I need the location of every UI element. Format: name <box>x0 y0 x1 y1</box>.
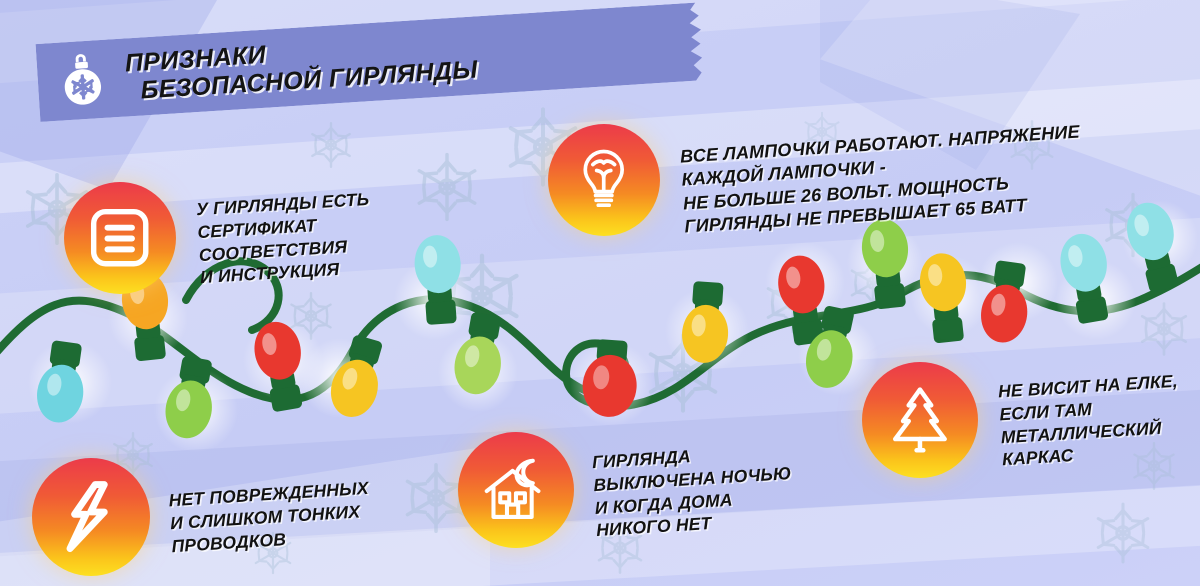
snowflake-icon <box>640 330 726 416</box>
feature-certificate: У ГИРЛЯНДЫ ЕСТЬ СЕРТИФИКАТ СООТВЕТСТВИЯ … <box>64 182 371 294</box>
bulbs-badge <box>548 124 660 236</box>
snowflake-icon <box>1135 300 1193 358</box>
fir-tree-icon <box>884 384 956 456</box>
snowflake-icon <box>306 120 356 170</box>
snowflake-icon <box>436 250 528 342</box>
feature-certificate-text: У ГИРЛЯНДЫ ЕСТЬ СЕРТИФИКАТ СООТВЕТСТВИЯ … <box>195 187 374 288</box>
feature-bulbs-text: ВСЕ ЛАМПОЧКИ РАБОТАЮТ. НАПРЯЖЕНИЕ КАЖДОЙ… <box>679 121 1084 240</box>
tree-badge <box>862 362 978 478</box>
page-title: ПРИЗНАКИ БЕЗОПАСНОЙ ГИРЛЯНДЫ <box>124 27 479 105</box>
feature-tree-text: НЕ ВИСИТ НА ЕЛКЕ, ЕСЛИ ТАМ МЕТАЛЛИЧЕСКИЙ… <box>997 369 1182 471</box>
snowflake-icon <box>845 255 901 311</box>
header-banner-content: ПРИЗНАКИ БЕЗОПАСНОЙ ГИРЛЯНДЫ <box>36 1 720 122</box>
document-lines-icon <box>85 203 154 272</box>
snowflake-icon <box>410 150 484 224</box>
feature-night: ГИРЛЯНДА ВЫКЛЮЧЕНА НОЧЬЮ И КОГДА ДОМА НИ… <box>458 432 792 548</box>
feature-night-text: ГИРЛЯНДА ВЫКЛЮЧЕНА НОЧЬЮ И КОГДА ДОМА НИ… <box>591 439 794 542</box>
snowflake-icon <box>1098 190 1168 260</box>
house-moon-icon <box>480 454 552 526</box>
certificate-badge <box>64 182 176 294</box>
infographic-poster: ПРИЗНАКИ БЕЗОПАСНОЙ ГИРЛЯНДЫ У ГИРЛЯНДЫ … <box>0 0 1200 586</box>
christmas-ornament-icon <box>54 51 111 110</box>
night-badge <box>458 432 574 548</box>
feature-bulbs: ВСЕ ЛАМПОЧКИ РАБОТАЮТ. НАПРЯЖЕНИЕ КАЖДОЙ… <box>548 124 1082 236</box>
snowflake-icon <box>1090 500 1156 566</box>
feature-wires: НЕТ ПОВРЕЖДЕННЫХ И СЛИШКОМ ТОНКИХ ПРОВОД… <box>32 458 370 576</box>
wires-badge <box>32 458 150 576</box>
feature-tree: НЕ ВИСИТ НА ЕЛКЕ, ЕСЛИ ТАМ МЕТАЛЛИЧЕСКИЙ… <box>862 362 1180 478</box>
lightning-bolt-icon <box>54 480 127 553</box>
snowflake-icon <box>760 270 826 336</box>
lightbulb-icon <box>569 145 638 214</box>
snowflake-icon <box>285 290 337 342</box>
feature-wires-text: НЕТ ПОВРЕЖДЕННЫХ И СЛИШКОМ ТОНКИХ ПРОВОД… <box>168 477 372 558</box>
